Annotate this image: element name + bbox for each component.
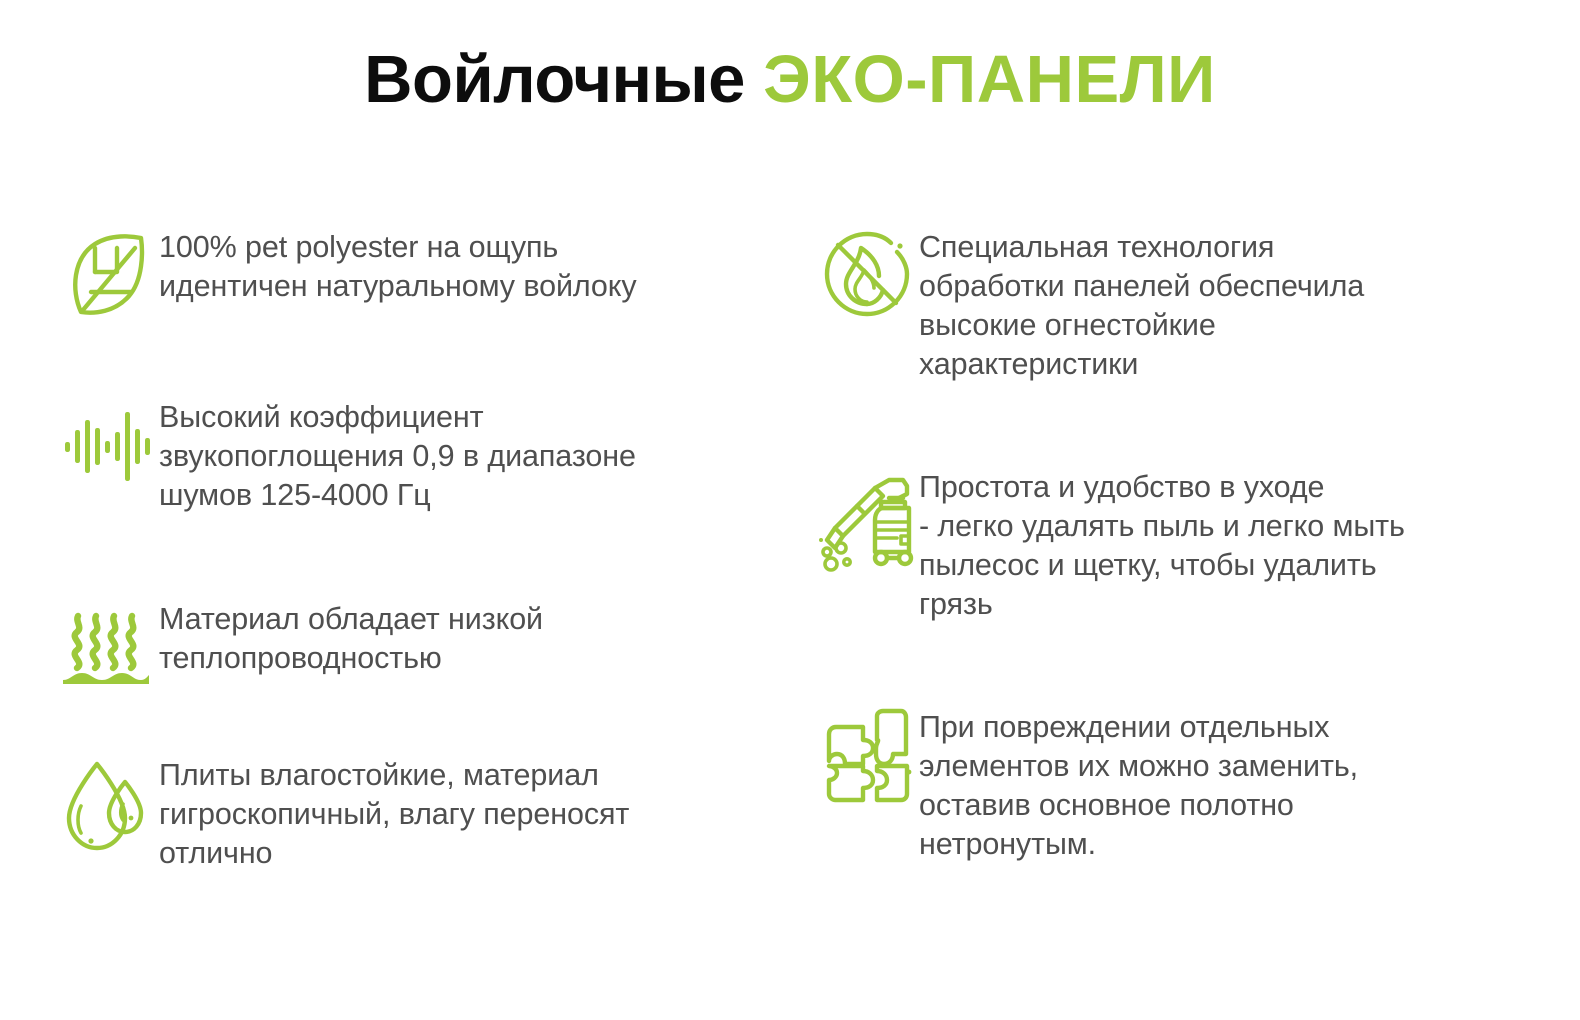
feature-text: Плиты влагостойкие, материал гигроскопич… — [159, 750, 629, 873]
sound-wave-icon — [55, 392, 159, 496]
no-fire-icon — [815, 222, 919, 326]
feature-text: Специальная технология обработки панелей… — [919, 222, 1364, 384]
vacuum-cleaner-icon — [815, 462, 919, 566]
feature-item-easy-care: Простота и удобство в уходе - легко удал… — [815, 462, 1405, 624]
feature-item-thermal-conductivity: Материал обладает низкой теплопроводност… — [55, 594, 543, 698]
feature-text: Материал обладает низкой теплопроводност… — [159, 594, 543, 678]
feature-item-fire-resistance: Специальная технология обработки панелей… — [815, 222, 1364, 384]
feature-text: Высокий коэффициент звукопоглощения 0,9 … — [159, 392, 636, 515]
leaf-icon — [55, 222, 159, 326]
water-drop-icon — [55, 750, 159, 854]
heat-insulation-icon — [55, 594, 159, 698]
feature-item-sound-absorption: Высокий коэффициент звукопоглощения 0,9 … — [55, 392, 636, 515]
title-black-part: Войлочные — [364, 42, 763, 117]
title-green-part: ЭКО-ПАНЕЛИ — [763, 42, 1216, 117]
page-title: Войлочные ЭКО-ПАНЕЛИ — [0, 46, 1580, 113]
feature-item-replaceable-elements: При повреждении отдельных элементов их м… — [815, 702, 1358, 864]
feature-text: При повреждении отдельных элементов их м… — [919, 702, 1358, 864]
feature-text: Простота и удобство в уходе - легко удал… — [919, 462, 1405, 624]
feature-item-moisture-resistance: Плиты влагостойкие, материал гигроскопич… — [55, 750, 629, 873]
feature-item-polyester: 100% pet polyester на ощупь идентичен на… — [55, 222, 637, 326]
feature-text: 100% pet polyester на ощупь идентичен на… — [159, 222, 637, 306]
puzzle-icon — [815, 702, 919, 806]
infographic-page: Войлочные ЭКО-ПАНЕЛИ 100% pet polyester … — [0, 0, 1580, 1020]
